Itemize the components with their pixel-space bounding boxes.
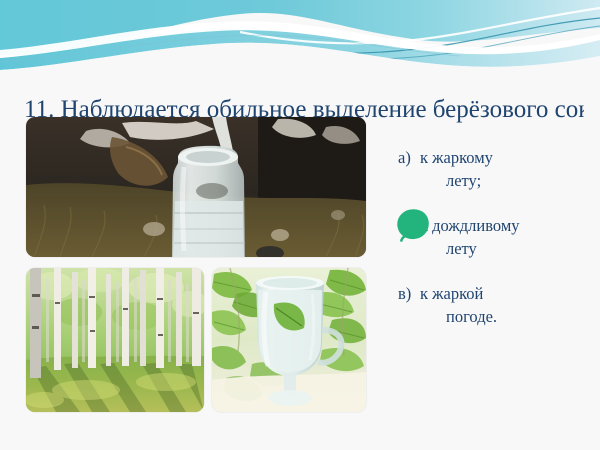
- answer-text-b: к дождливомулету: [420, 214, 580, 260]
- photo-birch-sap-collection-jar: [26, 117, 366, 257]
- answer-text-a: к жаркомулету;: [420, 146, 580, 192]
- answer-option-a[interactable]: а)к жаркомулету;: [398, 146, 598, 192]
- photo-birch-forest-grove: [26, 268, 204, 412]
- photo-glass-of-birch-sap: [212, 268, 366, 412]
- answer-options-list: а)к жаркомулету; б)к дождливомулету в)к …: [398, 146, 598, 350]
- answer-marker-v: в): [398, 282, 420, 305]
- answer-option-v[interactable]: в)к жаркойпогоде.: [398, 282, 598, 328]
- answer-marker-b: б): [398, 214, 420, 237]
- answer-option-b[interactable]: б)к дождливомулету: [398, 214, 598, 260]
- decorative-wave-banner: [0, 0, 600, 96]
- answer-marker-a: а): [398, 146, 420, 169]
- answer-text-v: к жаркойпогоде.: [420, 282, 580, 328]
